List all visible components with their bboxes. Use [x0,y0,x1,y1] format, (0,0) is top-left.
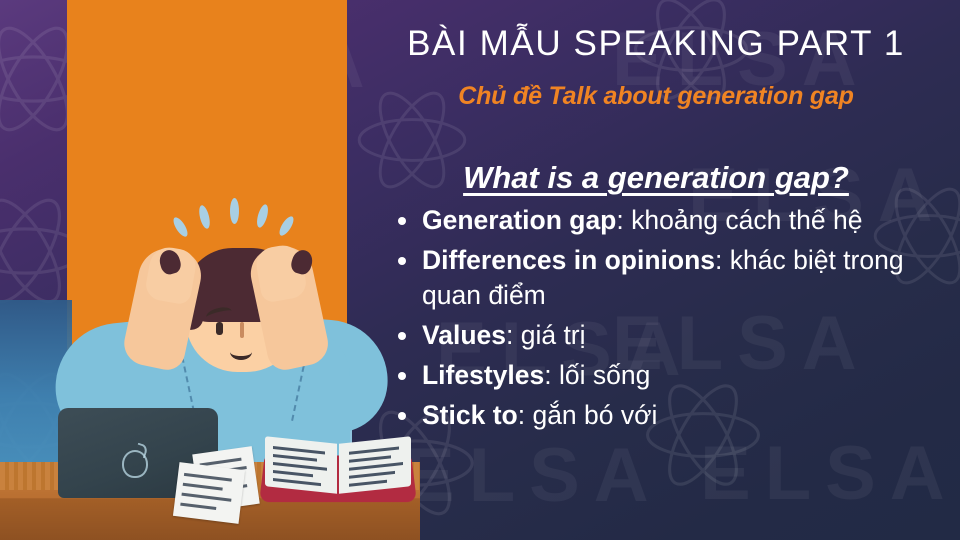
student-eye-left [216,322,223,335]
list-item: Values: giá trị [382,318,942,353]
stress-spark-icon [171,215,190,238]
stress-spark-icon [197,204,212,229]
slide-subtitle: Chủ đề Talk about generation gap [352,82,960,111]
list-item: Differences in opinions: khác biệt trong… [382,243,942,313]
list-item-gloss: khoảng cách thế hệ [631,205,862,235]
list-item-term: Values [422,320,506,350]
laptop-apple-logo-icon [122,450,148,478]
list-item-separator: : [518,400,533,430]
list-item-term: Lifestyles [422,360,544,390]
stress-spark-icon [277,214,296,237]
list-item: Stick to: gắn bó với [382,398,942,433]
list-item-term: Stick to [422,400,518,430]
list-item-separator: : [544,360,559,390]
list-item-term: Generation gap [422,205,616,235]
list-item-separator: : [715,245,730,275]
student-nose [240,322,244,338]
list-item-term: Differences in opinions [422,245,715,275]
list-item-gloss: giá trị [521,320,586,350]
slide-canvas: ELSA ELSA ELSA ELSA ELSA ELSA ELSA [0,0,960,540]
stress-spark-icon [230,198,239,224]
list-item: Generation gap: khoảng cách thế hệ [382,203,942,238]
section-heading: What is a generation gap? [352,160,960,196]
list-item-gloss: lối sống [559,360,650,390]
list-item-separator: : [616,205,631,235]
paper-sheet [173,462,245,524]
list-item-gloss: gắn bó với [532,400,657,430]
student-mouth-frown [230,344,252,360]
list-item-separator: : [506,320,521,350]
stress-spark-icon [255,203,270,229]
book-page-left [265,436,337,494]
content-column: BÀI MẪU SPEAKING PART 1 Chủ đề Talk abou… [352,0,960,540]
vocabulary-list: Generation gap: khoảng cách thế hệ Diffe… [382,203,942,438]
list-item: Lifestyles: lối sống [382,358,942,393]
slide-title: BÀI MẪU SPEAKING PART 1 [352,26,960,63]
